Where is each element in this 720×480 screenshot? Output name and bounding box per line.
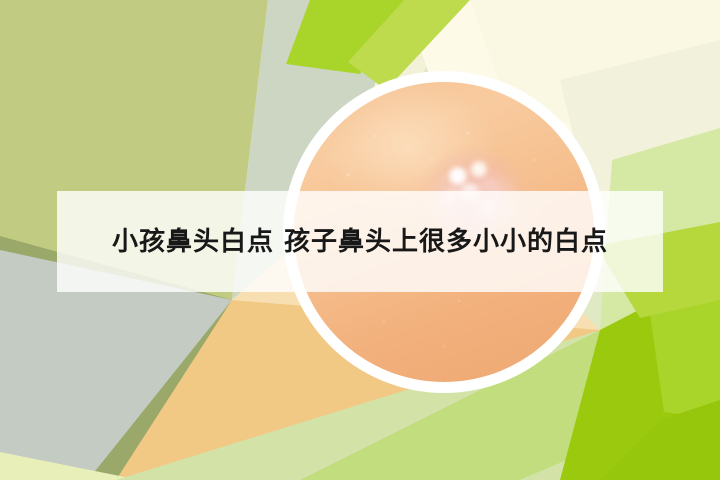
caption-band: 小孩鼻头白点 孩子鼻头上很多小小的白点	[57, 191, 663, 292]
poster-image: 小孩鼻头白点 孩子鼻头上很多小小的白点	[0, 0, 720, 480]
caption-title: 小孩鼻头白点 孩子鼻头上很多小小的白点	[112, 229, 608, 255]
